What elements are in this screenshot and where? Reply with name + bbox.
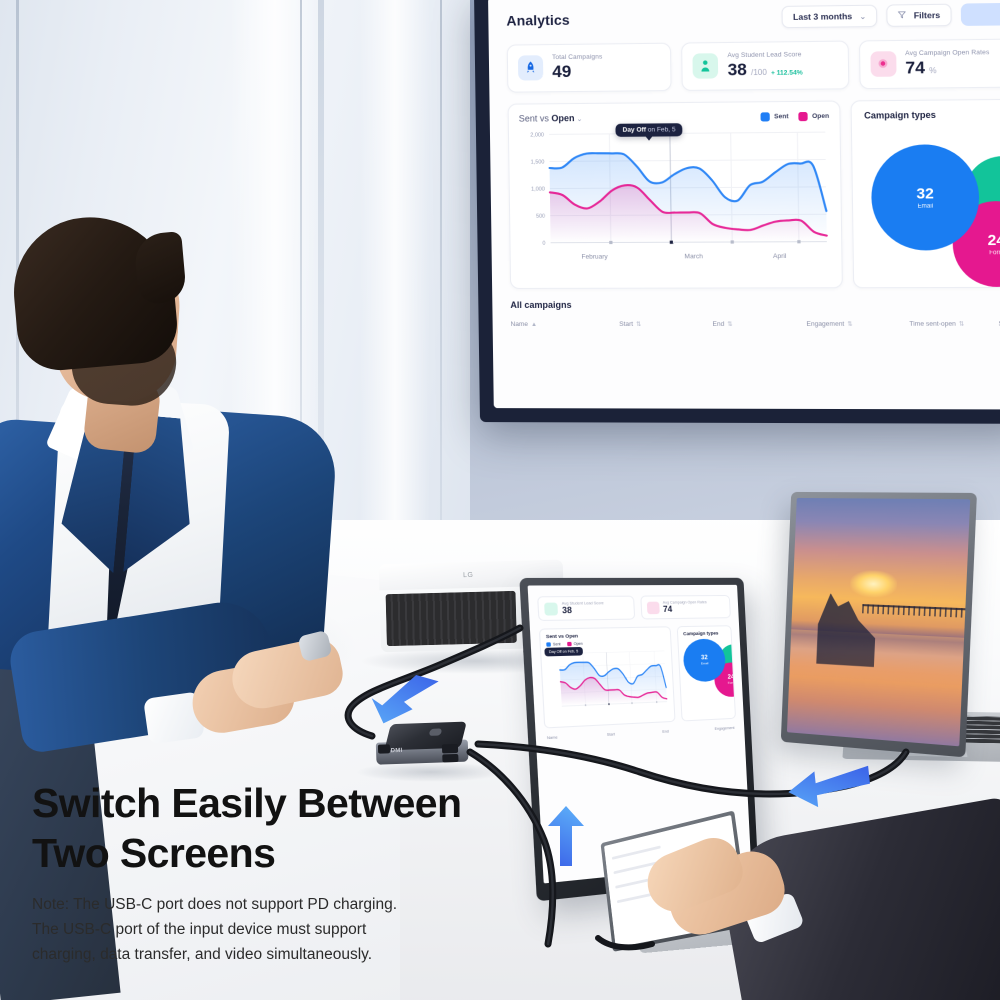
campaign-types-title: Campaign types <box>864 109 1000 121</box>
product-photo-scene: Analytics Last 3 months ⌄ Filters <box>0 0 1000 1000</box>
svg-text:1,000: 1,000 <box>531 187 545 193</box>
chart-title-prefix: Sent vs <box>519 113 552 123</box>
kpi-card-open-rates: Avg Campaign Open Rates 74 % <box>859 38 1000 89</box>
svg-text:February: February <box>581 254 608 261</box>
hub-port-right-lower <box>442 754 458 763</box>
hdmi-switch-hub: HDMI <box>371 721 481 775</box>
tooltip-rest: on Feb, 5 <box>646 126 676 133</box>
mini-kpi-value: 74 <box>663 604 707 614</box>
kpi-card-total-campaigns: Total Campaigns 49 <box>507 43 672 93</box>
mini-legend-open: Open <box>567 642 583 647</box>
bubble-email: 32 Email <box>871 144 980 250</box>
laptop-screen <box>787 498 970 746</box>
note-line-2: The USB-C port of the input device must … <box>32 917 552 942</box>
kpi-unit: /100 <box>751 68 767 77</box>
note-line-1: Note: The USB-C port does not support PD… <box>32 892 552 917</box>
column-label: Start <box>619 321 633 328</box>
chevron-down-icon: ⌄ <box>859 11 866 20</box>
page-title: Analytics <box>506 12 570 29</box>
sort-icon: ⇅ <box>727 321 732 328</box>
headline: Switch Easily Between Two Screens <box>32 778 552 878</box>
headline-line-2: Two Screens <box>32 828 552 878</box>
target-icon <box>870 51 896 77</box>
kpi-value-row: 49 <box>552 63 602 81</box>
wallpaper-sun <box>849 570 897 598</box>
chevron-down-icon: ⌄ <box>577 116 583 123</box>
column-label: Time sent-open <box>909 321 956 328</box>
laptop-lid <box>781 492 977 757</box>
chart-title-strong: Open <box>551 113 574 123</box>
mini-panels: Sent vs Open Sent Open <box>539 625 736 728</box>
chart-title[interactable]: Sent vs Open⌄ <box>519 113 583 124</box>
laptop-with-sunset-wallpaper <box>770 492 1000 772</box>
column-label: Name <box>511 321 528 328</box>
projected-dashboard: Analytics Last 3 months ⌄ Filters <box>488 0 1000 410</box>
mini-bubble-form-label: Form <box>728 681 735 685</box>
legend-label-open: Open <box>812 112 829 119</box>
column-header-time-sent-open[interactable]: Time sent-open ⇅ <box>909 321 998 328</box>
line-chart-svg: 05001,0001,5002,000FebruaryMarchApril <box>519 126 831 265</box>
kpi-unit: % <box>929 66 937 75</box>
legend-item-open: Open <box>799 111 830 120</box>
primary-action-button[interactable] <box>961 3 1000 26</box>
filter-icon <box>898 10 906 20</box>
mini-kpi-value: 38 <box>562 605 604 615</box>
note-line-3: charging, data transfer, and video simul… <box>32 942 552 967</box>
campaign-types-bubbles: 24 Form 32 Email <box>864 127 1000 281</box>
all-campaigns-section: All campaigns Name ▲ Start ⇅ End ⇅ <box>510 299 1000 328</box>
businessman-seated <box>0 195 360 665</box>
dashboard-header: Analytics Last 3 months ⌄ Filters <box>506 3 1000 32</box>
svg-text:0: 0 <box>542 241 545 247</box>
mini-table-header: Name Start End Engagement <box>545 726 737 741</box>
filters-button[interactable]: Filters <box>887 4 952 27</box>
mini-chart-panel: Sent vs Open Sent Open <box>539 626 676 728</box>
svg-text:2,000: 2,000 <box>530 132 544 138</box>
user-score-icon <box>693 53 719 79</box>
mini-legend: Sent Open <box>546 640 665 647</box>
projector-vent-grille <box>386 591 517 646</box>
user-score-icon <box>544 602 558 615</box>
kpi-cards: Total Campaigns 49 Avg Student Le <box>507 38 1000 92</box>
chart-legend: Sent Open <box>761 111 829 121</box>
hub-port-right-upper <box>442 744 458 754</box>
sent-vs-open-chart-panel: Sent vs Open⌄ Sent Open <box>508 101 843 289</box>
campaign-types-panel: Campaign types 24 Form 32 Email <box>851 99 1000 288</box>
mini-types-title: Campaign types <box>683 630 726 636</box>
mini-kpi-body: Avg Student Lead Score 38 <box>562 601 605 615</box>
mini-column-label: Name <box>547 735 558 740</box>
kpi-label: Total Campaigns <box>552 54 602 62</box>
tooltip-strong: Day Off <box>623 127 646 134</box>
sort-icon: ⇅ <box>959 321 964 328</box>
column-header-engagement[interactable]: Engagement ⇅ <box>806 321 909 328</box>
mini-column-label: Engagement <box>714 726 734 731</box>
svg-text:March: March <box>684 253 703 260</box>
mini-kpi-body: Avg Campaign Open Rates 74 <box>663 600 708 614</box>
headline-line-1: Switch Easily Between <box>32 778 552 828</box>
kpi-card-lead-score: Avg Student Lead Score 38 /100 + 112.54% <box>681 41 849 91</box>
date-range-label: Last 3 months <box>793 11 852 22</box>
kpi-body: Total Campaigns 49 <box>552 54 603 81</box>
column-header-start[interactable]: Start ⇅ <box>619 321 712 328</box>
chart-header: Sent vs Open⌄ Sent Open <box>519 111 830 124</box>
bubble-email-value: 32 <box>916 186 933 201</box>
arrow-left-to-projector <box>352 672 448 728</box>
mini-legend-swatch <box>567 642 572 646</box>
legend-swatch-open <box>799 111 808 120</box>
wallpaper-water-reflection <box>787 629 964 746</box>
mini-kpi-row: Avg Student Lead Score 38 Avg Campaign O… <box>537 595 731 621</box>
mini-legend-label: Sent <box>553 642 561 646</box>
sort-icon: ▲ <box>531 321 537 327</box>
mini-chart-tooltip: Day Off on Feb, 5 <box>544 647 582 657</box>
marketing-copy: Switch Easily Between Two Screens Note: … <box>32 778 552 967</box>
rocket-icon <box>518 55 543 80</box>
chart-tooltip: Day Off on Feb, 5 <box>615 123 682 137</box>
svg-text:April: April <box>773 253 786 260</box>
sort-icon: ⇅ <box>636 321 641 328</box>
kpi-body: Avg Campaign Open Rates 74 % <box>905 49 990 76</box>
bubble-form-value: 24 <box>988 232 1000 247</box>
mini-chart-title: Sent vs Open <box>546 632 665 640</box>
wallpaper-bridge <box>862 604 965 618</box>
kpi-delta: + 112.54% <box>771 69 803 76</box>
kpi-value-row: 38 /100 + 112.54% <box>727 60 802 78</box>
kpi-value: 49 <box>552 63 571 80</box>
all-campaigns-title: All campaigns <box>510 299 1000 310</box>
mini-legend-sent: Sent <box>546 642 561 647</box>
kpi-value-row: 74 % <box>905 58 990 76</box>
mini-kpi-lead-score: Avg Student Lead Score 38 <box>537 596 635 621</box>
analytics-dashboard: Analytics Last 3 months ⌄ Filters <box>488 0 1000 410</box>
chart-plot-area: Day Off on Feb, 5 05001,0001,5002,000Feb… <box>519 126 831 265</box>
businessman-typing <box>590 790 1000 1000</box>
sort-icon: ⇅ <box>847 321 852 328</box>
mini-column-label: Start <box>607 732 615 737</box>
panels-row: Sent vs Open⌄ Sent Open <box>508 99 1000 289</box>
header-controls: Last 3 months ⌄ Filters <box>782 3 1000 28</box>
kpi-value: 38 <box>727 61 747 78</box>
projector-logo: LG <box>463 572 474 579</box>
projection-screen: Analytics Last 3 months ⌄ Filters <box>474 0 1000 424</box>
legend-item-sent: Sent <box>761 112 789 121</box>
legend-swatch-sent <box>761 112 770 121</box>
hair <box>8 210 180 373</box>
mini-bubble-email-label: Email <box>701 661 709 665</box>
column-header-name[interactable]: Name ▲ <box>511 321 620 328</box>
column-header-end[interactable]: End ⇅ <box>712 321 806 328</box>
mini-line-chart-svg <box>547 648 669 717</box>
mini-types-panel: Campaign types 24 Form 32 Email <box>677 625 736 721</box>
filters-label: Filters <box>914 10 941 21</box>
kpi-label: Avg Student Lead Score <box>727 51 802 59</box>
bubble-form-label: Form <box>989 250 1000 256</box>
column-label: Engagement <box>806 321 844 328</box>
mini-kpi-open-rates: Avg Campaign Open Rates 74 <box>640 595 731 620</box>
column-label: End <box>712 321 724 328</box>
arrow-left-to-laptop <box>782 758 874 814</box>
mini-legend-label: Open <box>574 642 583 646</box>
target-icon <box>646 601 659 614</box>
table-header-row: Name ▲ Start ⇅ End ⇅ Engagement <box>511 321 1000 328</box>
kpi-value: 74 <box>905 59 925 77</box>
mini-column-label: End <box>662 729 669 733</box>
kpi-label: Avg Campaign Open Rates <box>905 49 989 57</box>
note-text: Note: The USB-C port does not support PD… <box>32 892 552 967</box>
svg-text:500: 500 <box>536 214 545 220</box>
date-range-dropdown[interactable]: Last 3 months ⌄ <box>782 5 878 29</box>
kpi-body: Avg Student Lead Score 38 /100 + 112.54% <box>727 51 802 78</box>
svg-text:1,500: 1,500 <box>531 160 545 166</box>
hub-port-left <box>378 744 390 753</box>
legend-label-sent: Sent <box>774 113 789 120</box>
mini-legend-swatch <box>546 642 551 646</box>
bubble-email-label: Email <box>917 203 933 209</box>
